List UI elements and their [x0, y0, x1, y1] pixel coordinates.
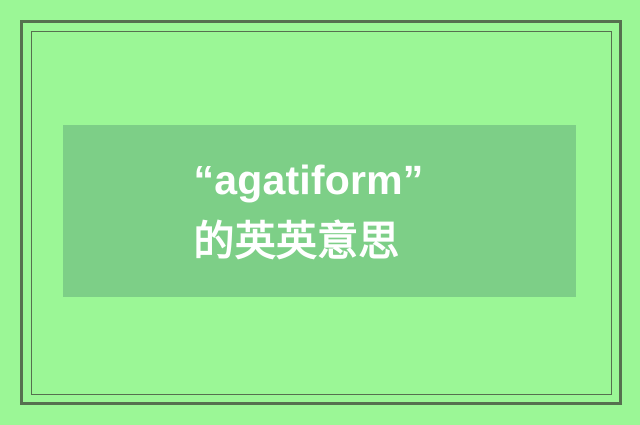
page-title: “agatiform”的英英意思	[194, 150, 454, 271]
title-card: “agatiform”的英英意思	[63, 125, 576, 297]
poster-canvas: “agatiform”的英英意思	[0, 0, 640, 425]
